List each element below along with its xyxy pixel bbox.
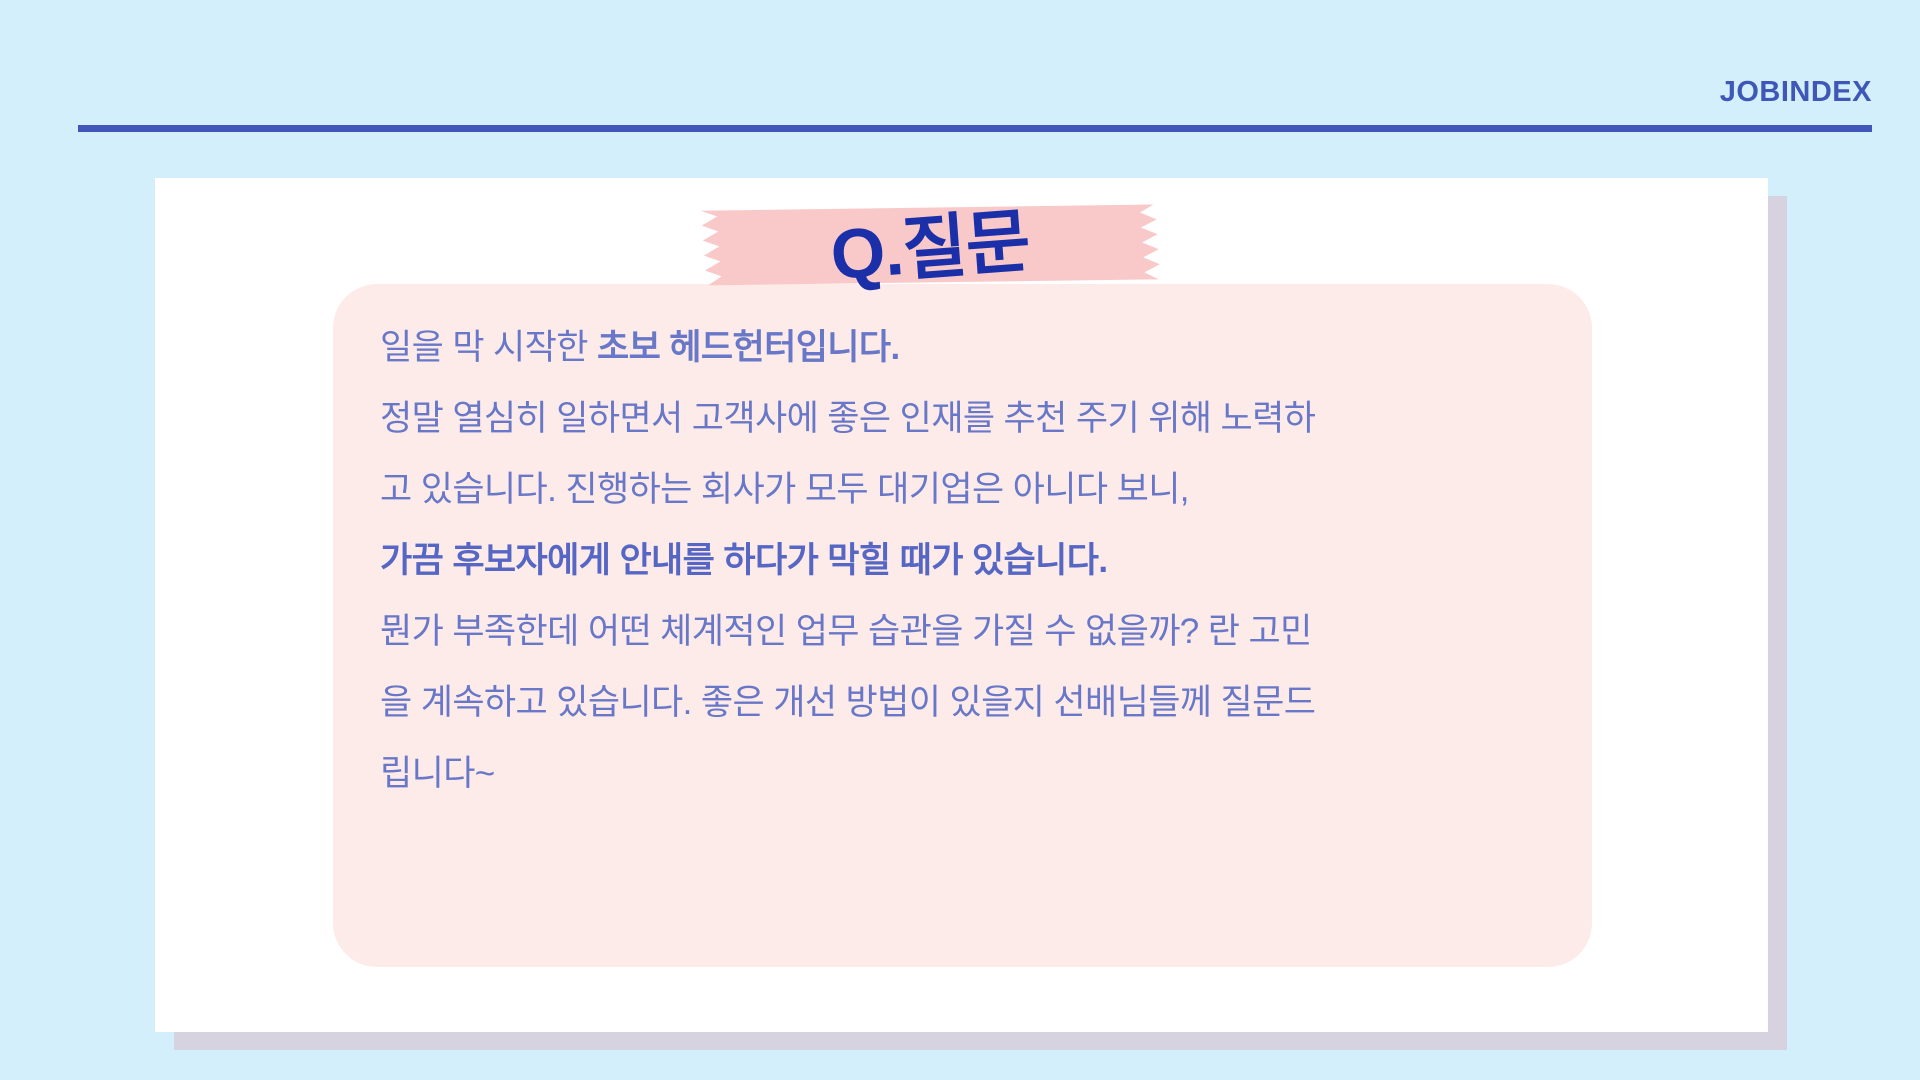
question-line: 뭔가 부족한데 어떤 체계적인 업무 습관을 가질 수 없을까? 란 고민 xyxy=(380,596,1560,667)
question-text-block: 일을 막 시작한 초보 헤드헌터입니다. 정말 열심히 일하면서 고객사에 좋은… xyxy=(380,312,1560,809)
question-line-normal: 일을 막 시작한 xyxy=(380,328,597,367)
header-divider-rule xyxy=(78,125,1872,132)
question-line: 립니다~ xyxy=(380,738,1560,809)
question-line: 일을 막 시작한 초보 헤드헌터입니다. xyxy=(380,312,1560,383)
question-line: 정말 열심히 일하면서 고객사에 좋은 인재를 추천 주기 위해 노력하 xyxy=(380,383,1560,454)
question-line-bold: 초보 헤드헌터입니다. xyxy=(597,328,900,367)
content-card: 일을 막 시작한 초보 헤드헌터입니다. 정말 열심히 일하면서 고객사에 좋은… xyxy=(155,178,1768,1032)
question-line: 을 계속하고 있습니다. 좋은 개선 방법이 있을지 선배님들께 질문드 xyxy=(380,667,1560,738)
question-line: 가끔 후보자에게 안내를 하다가 막힐 때가 있습니다. xyxy=(380,525,1560,596)
brand-logo: JOBINDEX xyxy=(1720,78,1872,107)
question-line: 고 있습니다. 진행하는 회사가 모두 대기업은 아니다 보니, xyxy=(380,454,1560,525)
slide-root: JOBINDEX 일을 막 시작한 초보 헤드헌터입니다. 정말 열심히 일하면… xyxy=(0,0,1920,1080)
slide-header: JOBINDEX xyxy=(0,0,1920,140)
